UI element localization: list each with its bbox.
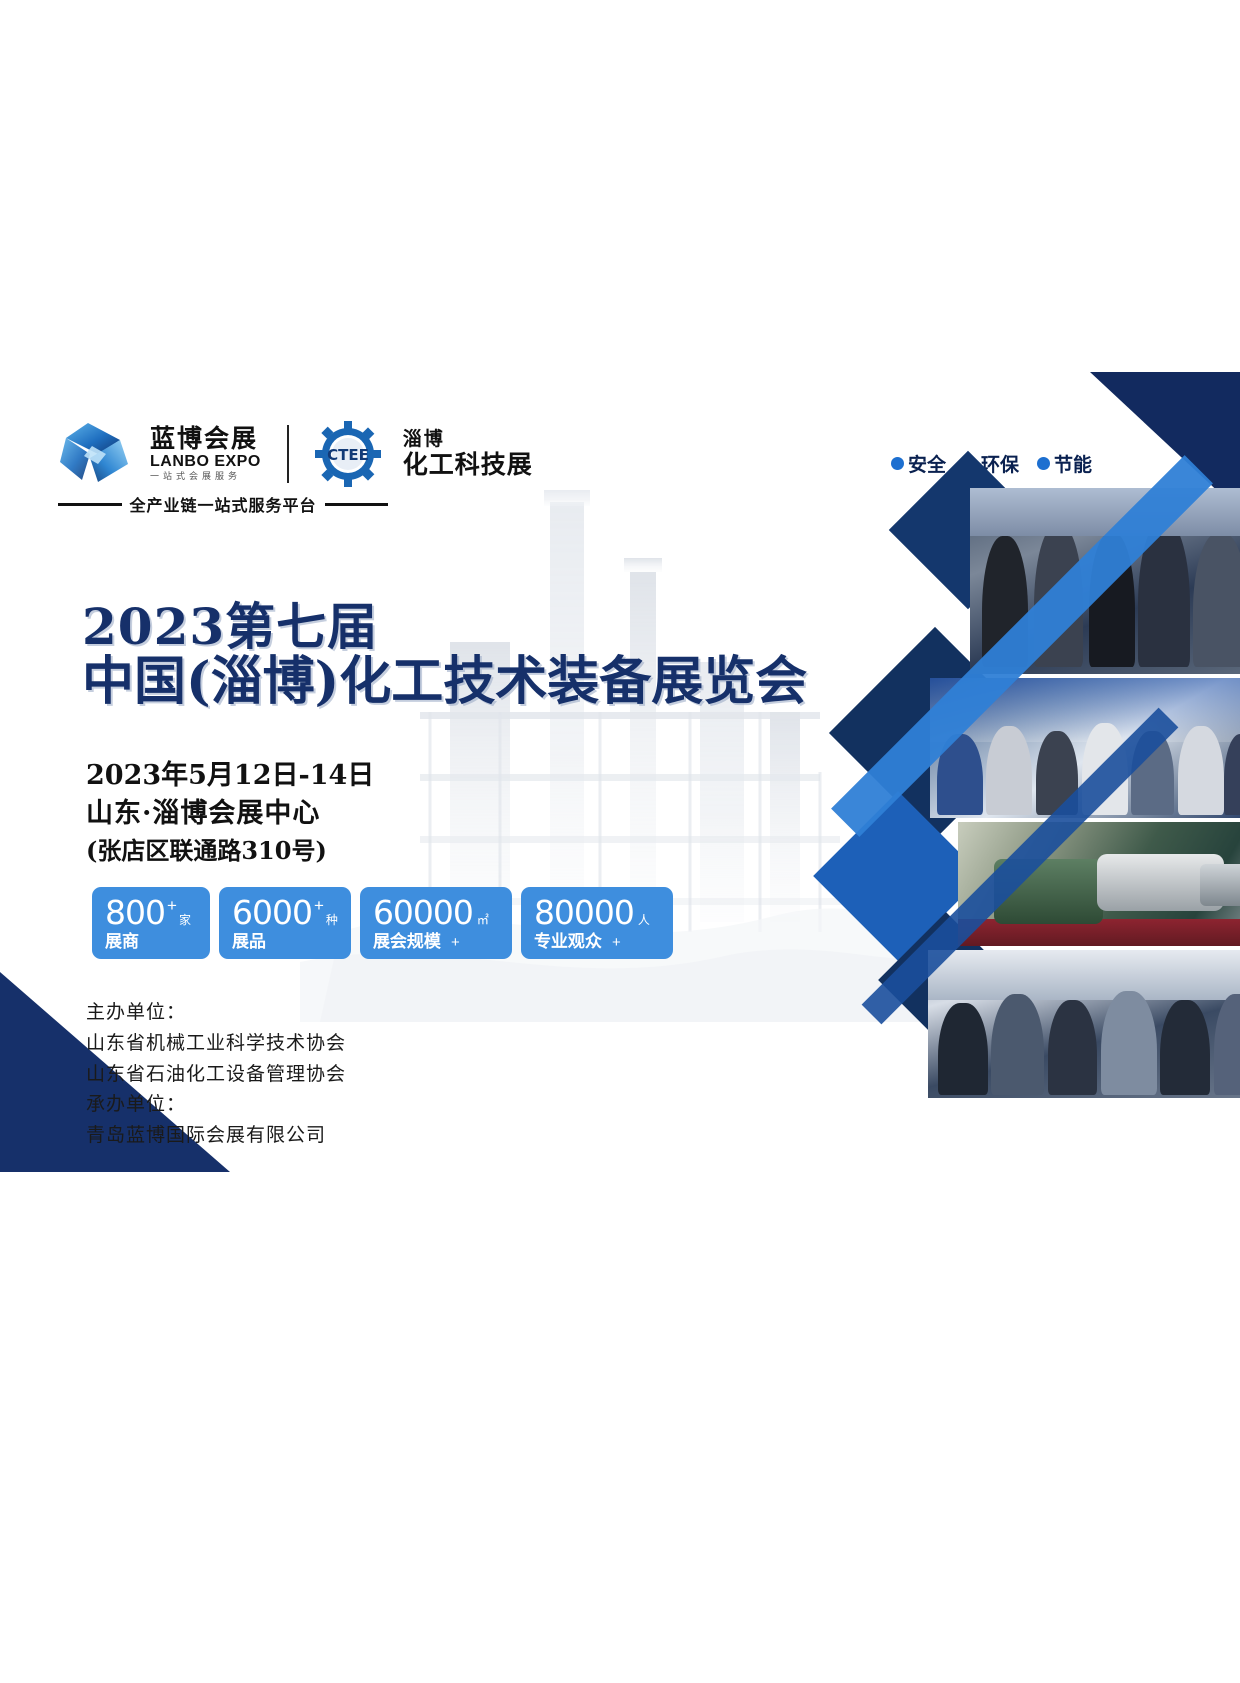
title-line-1: 2023第七届 xyxy=(82,600,807,654)
stat-number: 800 xyxy=(105,896,165,929)
stat-badge-exhibits: 6000 + 种 展品 xyxy=(219,887,351,959)
stat-label: 展会规模 xyxy=(373,934,441,951)
poster-canvas: 蓝博会展 LANBO EXPO 一站式会展服务 xyxy=(0,372,1240,1172)
brand-header: 蓝博会展 LANBO EXPO 一站式会展服务 xyxy=(58,420,533,488)
photo-exhibition-crowd-3 xyxy=(928,950,1240,1098)
brand-tagline: 全产业链一站式服务平台 xyxy=(130,492,317,516)
organizers-block: 主办单位： 山东省机械工业科学技术协会 山东省石油化工设备管理协会 承办单位： … xyxy=(86,997,346,1151)
lanbo-diamond-logo-icon xyxy=(58,420,136,488)
event-info: 2023年5月12日-14日 山东·淄博会展中心 (张店区联通路310号) xyxy=(86,757,374,868)
photo-content xyxy=(928,950,1240,1098)
lanbo-wordmark: 蓝博会展 LANBO EXPO 一站式会展服务 xyxy=(150,426,261,481)
ctee-gear-logo-icon: CTEE xyxy=(315,421,381,487)
bullet-dot-icon xyxy=(891,457,904,470)
stat-label: 展品 xyxy=(232,934,266,951)
expo-title: 化工科技展 xyxy=(403,451,533,480)
stats-row: 800 + 家 展商 6000 + 种 展品 xyxy=(92,887,673,959)
event-date: 2023年5月12日-14日 xyxy=(86,757,374,795)
host-org-2: 山东省石油化工设备管理协会 xyxy=(86,1059,346,1090)
photo-collage xyxy=(850,480,1240,1100)
stat-unit: ㎡ xyxy=(477,914,489,926)
stat-superscript: + xyxy=(167,897,177,914)
bullet-dot-icon xyxy=(1037,457,1050,470)
stat-label: 专业观众 xyxy=(534,934,602,951)
stat-number: 6000 xyxy=(232,896,312,929)
keyword-label: 安全 xyxy=(908,450,946,477)
lanbo-sub-name: 一站式会展服务 xyxy=(150,471,261,482)
stat-unit: 人 xyxy=(638,914,650,926)
stat-badge-visitors: 80000 人 专业观众 + xyxy=(521,887,673,959)
svg-text:CTEE: CTEE xyxy=(327,446,369,464)
lanbo-en-name: LANBO EXPO xyxy=(150,453,261,471)
title-line-2: 中国(淄博)化工技术装备展览会 xyxy=(82,654,807,710)
keyword-energy-saving: 节能 xyxy=(1037,450,1092,477)
organizer-org-1: 青岛蓝博国际会展有限公司 xyxy=(86,1120,346,1151)
logo-divider xyxy=(287,425,289,483)
event-venue: 山东·淄博会展中心 xyxy=(86,795,374,833)
stat-unit: 家 xyxy=(179,914,191,926)
stat-superscript: + xyxy=(314,897,324,914)
keyword-list: 安全 环保 节能 xyxy=(891,450,1092,477)
host-label: 主办单位： xyxy=(86,997,346,1028)
stat-plus: + xyxy=(451,935,460,950)
stat-badge-exhibition-area: 60000 ㎡ 展会规模 + xyxy=(360,887,512,959)
stat-badge-exhibitors: 800 + 家 展商 xyxy=(92,887,210,959)
stat-unit: 种 xyxy=(326,914,338,926)
poster-page: 蓝博会展 LANBO EXPO 一站式会展服务 xyxy=(0,0,1240,1683)
stat-number: 60000 xyxy=(373,896,473,929)
lanbo-cn-name: 蓝博会展 xyxy=(150,426,261,452)
expo-name: 淄博 化工科技展 xyxy=(403,429,533,480)
tagline-rule-right xyxy=(325,503,389,506)
stat-plus: + xyxy=(612,935,621,950)
stat-label: 展商 xyxy=(105,934,139,951)
keyword-safety: 安全 xyxy=(891,450,946,477)
host-org-1: 山东省机械工业科学技术协会 xyxy=(86,1028,346,1059)
page-title: 2023第七届 中国(淄博)化工技术装备展览会 xyxy=(82,600,807,710)
brand-tagline-row: 全产业链一站式服务平台 xyxy=(58,492,388,516)
event-address: (张店区联通路310号) xyxy=(86,834,374,868)
keyword-label: 节能 xyxy=(1054,450,1092,477)
organizer-label: 承办单位： xyxy=(86,1089,346,1120)
expo-city: 淄博 xyxy=(403,429,533,451)
stat-number: 80000 xyxy=(534,896,634,929)
tagline-rule-left xyxy=(58,503,122,506)
